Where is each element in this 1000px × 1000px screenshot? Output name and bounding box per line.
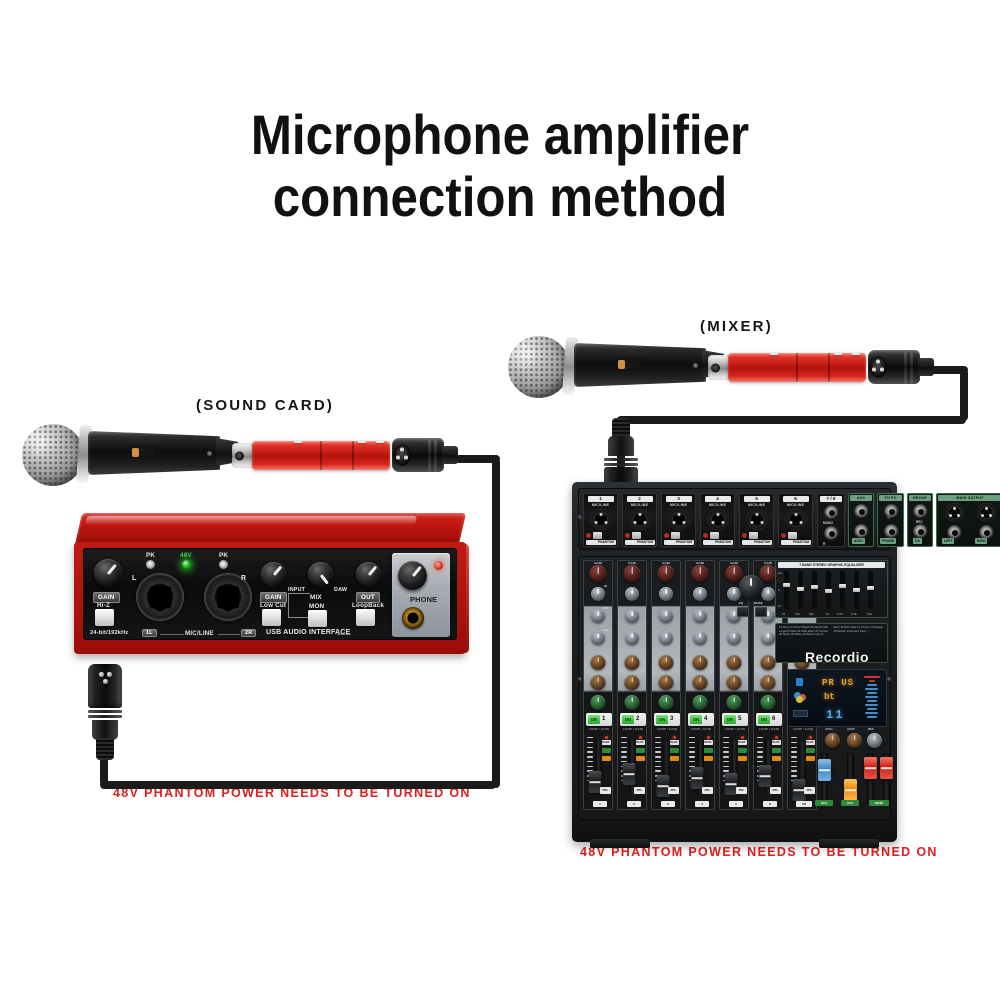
channel-on-button[interactable]: ON 4	[688, 713, 714, 726]
pfl-button[interactable]: PFL	[736, 787, 747, 794]
aux1-knob[interactable]	[761, 655, 776, 670]
adapter-seam-2	[828, 353, 830, 382]
eq-hi-knob[interactable]	[693, 587, 707, 601]
eq-mid-knob[interactable]	[625, 609, 639, 623]
aux1-knob[interactable]	[727, 655, 742, 670]
adapter-notch-2	[834, 352, 842, 355]
channel-letter-l: L	[132, 575, 136, 582]
diagram-canvas: Microphone amplifier connection method (…	[0, 0, 1000, 1000]
comp-gate-label: COMP / GATE	[586, 727, 612, 731]
channel-number: 5	[738, 715, 741, 724]
combo-jack-1[interactable]	[136, 573, 184, 621]
rear-group-to-pc[interactable]: TO PC PHONE	[877, 493, 904, 547]
aux1-knob[interactable]	[693, 655, 708, 670]
group-jack-bottom[interactable]	[884, 524, 899, 539]
xlr-male-ring-2	[88, 715, 122, 718]
audio-mixer: 1 MIC/LINE PHANTOM 2 MIC/LINE PHANTOM	[572, 482, 897, 842]
master-rec-label: REC	[868, 727, 874, 731]
aux-fader-label: AUX	[841, 800, 859, 806]
fader-number: 6	[763, 801, 777, 807]
mixer-rear-input-panel: 1 MIC/LINE PHANTOM 2 MIC/LINE PHANTOM	[578, 488, 891, 550]
rear-channel-number: 3	[666, 496, 692, 502]
panel-screw-right	[887, 515, 891, 519]
headphone-jack[interactable]	[402, 607, 424, 629]
eq-slider-400[interactable]	[812, 571, 817, 609]
rear-xlr-jack[interactable]	[590, 509, 611, 530]
fader-number: 4	[695, 801, 709, 807]
phone-knob[interactable]	[398, 561, 427, 590]
xlr-female-band-1	[904, 350, 907, 384]
mic-power-switch[interactable]	[130, 446, 156, 459]
eq-low-knob[interactable]	[625, 631, 639, 645]
microphone-sound-card	[22, 420, 237, 490]
peak-led	[639, 736, 642, 739]
pfl-button[interactable]: PFL	[634, 787, 645, 794]
eq-mid-knob[interactable]	[659, 609, 673, 623]
aux2-knob[interactable]	[625, 675, 640, 690]
rear-trs-label-r: R	[823, 542, 825, 546]
fader-number: 1	[593, 801, 607, 807]
group-jack-top[interactable]	[854, 504, 869, 519]
main-fader-cap-right[interactable]	[880, 757, 893, 779]
group-title: AUX	[850, 495, 872, 501]
phantom-label: PHANTOM	[781, 540, 811, 545]
phantom-switch[interactable]	[586, 532, 616, 539]
adapter-seam-2	[352, 441, 354, 470]
xlr-male-sound-card	[88, 664, 122, 760]
eq-low-knob[interactable]	[727, 631, 741, 645]
phantom-switch[interactable]	[742, 532, 772, 539]
lcd-line-2: bt	[824, 692, 835, 702]
gain-knob[interactable]	[692, 565, 709, 582]
hi-z-label: Hi-Z	[97, 602, 110, 609]
peak-led	[775, 736, 778, 739]
comp-gate-label: COMP / GATE	[722, 727, 748, 731]
rear-channel-5[interactable]: 5 MIC/LINE PHANTOM	[739, 493, 774, 547]
rear-group-aux[interactable]: AUX AUX1	[848, 493, 874, 547]
pfl-button[interactable]: PFL	[804, 787, 815, 794]
efx-fader-cap[interactable]	[818, 759, 831, 781]
peak-led-right	[219, 560, 228, 569]
cable-soundcard-seg-h-bottom	[100, 781, 496, 789]
pan-knob[interactable]	[591, 695, 606, 710]
xlr-female-mixer	[868, 350, 944, 384]
phantom-switch[interactable]	[703, 532, 733, 539]
gain-label: GAIN	[764, 561, 772, 565]
on-indicator: ON	[758, 715, 770, 724]
gain-left-knob[interactable]	[94, 559, 122, 587]
eq-low-label: LOW	[602, 628, 609, 632]
eq-freq-6k3: 6.3K	[851, 612, 857, 616]
eq-hi-knob[interactable]	[761, 587, 775, 601]
eq-scale-zero: 0	[778, 588, 780, 592]
mon-button[interactable]	[308, 610, 327, 627]
adapter-notch-2	[358, 440, 366, 443]
phantom-switch[interactable]	[781, 532, 811, 539]
group-jack-bottom[interactable]	[854, 524, 869, 539]
group-jack-bottom[interactable]	[913, 524, 928, 539]
eq-low-knob[interactable]	[693, 631, 707, 645]
aux2-knob[interactable]	[693, 675, 708, 690]
channel-strip-1[interactable]: GAIN HI MID LOW ON 1 COMP / GATE PEAK	[583, 560, 613, 810]
gain-label: GAIN	[696, 561, 704, 565]
jack-tag-2: 2R	[241, 629, 256, 637]
pan-knob[interactable]	[727, 695, 742, 710]
master-aux2-label: AUX2	[847, 727, 855, 731]
channel-on-button[interactable]: ON 6	[756, 713, 782, 726]
aux2-knob[interactable]	[659, 675, 674, 690]
on-indicator: ON	[656, 715, 668, 724]
main-out-xlr-left[interactable]	[945, 503, 964, 522]
adapter-seam-1	[320, 441, 322, 470]
mixer-brand-label: Recordio	[789, 649, 885, 665]
rear-xlr-jack[interactable]	[707, 509, 728, 530]
mix-daw-label: DAW	[334, 587, 347, 593]
channel-strip-3[interactable]: GAIN ON 3 COMP / GATE PEAK	[651, 560, 681, 810]
phone-label: PHONE	[410, 595, 437, 604]
page-title-line1: Microphone amplifier	[251, 103, 749, 166]
sound-card-front-panel: GAIN L Hi-Z PK 48V PK R 24-bit/192kHz 1L	[83, 548, 457, 640]
side-button-eq[interactable]	[737, 607, 749, 617]
rear-channel-3[interactable]: 3 MIC/LINE PHANTOM	[661, 493, 696, 547]
xlr-male-ring-2	[604, 463, 638, 466]
eq-freq-1k: 1K	[826, 612, 829, 616]
eq-freq-160: 160	[795, 612, 800, 616]
main-fader-cap-left[interactable]	[864, 757, 877, 779]
eq-slider-6k3[interactable]	[854, 571, 859, 609]
mic-line-label: MIC/LINE	[185, 630, 214, 637]
panel-screw-left	[578, 515, 582, 519]
eq-hi-label: HI	[604, 584, 607, 588]
pfl-button[interactable]: PFL	[668, 787, 679, 794]
graphic-equalizer-panel[interactable]: 7 BAND STEREO GRAPHIC EQUALIZER 63 160 4…	[775, 560, 888, 618]
aux2-knob[interactable]	[727, 675, 742, 690]
eq-hi-knob[interactable]	[659, 587, 673, 601]
channel-number: 2	[636, 715, 639, 724]
cable-mixer-seg-h-mid	[617, 416, 966, 424]
phantom-label: PHANTOM	[664, 540, 694, 545]
rear-channel-type: MIC/LINE	[787, 503, 804, 507]
comp-gate-label: COMP / GATE	[756, 727, 782, 731]
jack-tag-1: 1L	[142, 629, 157, 637]
pfl-button[interactable]: PFL	[600, 787, 611, 794]
rear-trs-jack-r[interactable]	[824, 526, 839, 541]
xlr-female-band-2	[434, 438, 437, 472]
mic-rear-vent	[207, 451, 212, 456]
xlr-male-pin-3	[103, 679, 108, 684]
channel-number: 4	[704, 715, 707, 724]
peak-led	[707, 736, 710, 739]
main-fader-label: MAIN	[869, 800, 889, 806]
mix-label: MIX	[310, 594, 322, 601]
rear-channel-type: MIC/LINE	[631, 503, 648, 507]
page-title: Microphone amplifier connection method	[60, 104, 940, 228]
mixer-control-surface: GAIN HI MID LOW ON 1 COMP / GATE PEAK	[578, 556, 891, 820]
channel-number: 1	[602, 715, 605, 724]
rear-channel-type: MIC/LINE	[709, 503, 726, 507]
xlr-male-pin-1	[99, 672, 104, 677]
gain-right-knob[interactable]	[261, 562, 286, 587]
main-out-label-right: RIGH	[975, 538, 987, 544]
gain-knob[interactable]	[726, 565, 743, 582]
rear-xlr-jack[interactable]	[668, 509, 689, 530]
mic-power-switch[interactable]	[616, 358, 642, 371]
eq-slider-1k[interactable]	[826, 571, 831, 609]
rear-channel-1[interactable]: 1 MIC/LINE PHANTOM	[583, 493, 618, 547]
peak-led	[673, 736, 676, 739]
peak-label-left: PK	[146, 552, 155, 559]
mixer-lcd-display: PR US bt 11	[787, 669, 887, 727]
xlr-female-sound-card	[392, 438, 468, 472]
adapter-seam-1	[796, 353, 798, 382]
comp-gate-label: COMP / GATE	[790, 727, 816, 731]
sound-card-top-gloss	[85, 516, 417, 525]
phantom-label: PHANTOM	[586, 540, 616, 545]
xlr-female-boot	[442, 446, 458, 464]
rear-channel-number: 5	[744, 496, 770, 502]
channel-on-button[interactable]: ON 3	[654, 713, 680, 726]
on-indicator: ON	[588, 715, 600, 724]
channel-strip-4[interactable]: GAIN ON 4 COMP / GATE PEAK	[685, 560, 715, 810]
aux1-knob[interactable]	[591, 655, 606, 670]
phantom-switch[interactable]	[664, 532, 694, 539]
low-cut-button[interactable]	[262, 609, 281, 626]
xlr-female-boot	[918, 358, 934, 376]
rear-group-group[interactable]: GROUP REC CD	[907, 493, 933, 547]
channel-on-button[interactable]: ON 2	[620, 713, 646, 726]
red-xlr-adapter-mixer	[708, 347, 868, 387]
fader-number: 2	[627, 801, 641, 807]
xlr-male-strain-relief	[96, 738, 114, 760]
mixer-foot-left	[590, 839, 650, 848]
mic-rear-vent	[693, 363, 698, 368]
xlr-female-band-1	[428, 438, 431, 472]
on-indicator: ON	[724, 715, 736, 724]
channel-on-button[interactable]: ON 1	[586, 713, 612, 726]
gain-label: GAIN	[628, 561, 636, 565]
gain-label: GAIN	[594, 561, 602, 565]
channel-fader-cap[interactable]	[759, 765, 772, 787]
mon-bracket-h2	[288, 617, 308, 618]
gain-label: GAIN	[730, 561, 738, 565]
adapter-notch-3	[376, 440, 384, 443]
xlr-male-strain-relief	[612, 418, 630, 438]
power-led	[434, 561, 443, 570]
efx-fader-label: EFX	[815, 800, 833, 806]
comp-gate-label: COMP / GATE	[688, 727, 714, 731]
peak-led	[809, 736, 812, 739]
fader-number: 5	[729, 801, 743, 807]
xlr-male-pin-2	[107, 672, 112, 677]
xlr-male-head	[88, 664, 122, 708]
surface-screw-right	[887, 677, 891, 681]
cable-mixer-seg-v-right	[960, 369, 968, 421]
side-button-eq-label: EQ	[739, 601, 743, 605]
eq-slider-63[interactable]	[784, 571, 789, 609]
peak-led	[605, 736, 608, 739]
master-selector-knob[interactable]	[739, 575, 763, 599]
side-button-mode-label: MODE	[754, 601, 763, 605]
master-aux1-knob[interactable]	[825, 733, 840, 748]
pan-knob[interactable]	[693, 695, 708, 710]
master-aux2-knob[interactable]	[847, 733, 862, 748]
channel-fader-cap[interactable]	[691, 767, 704, 789]
group-bottom-label: CD	[913, 538, 922, 544]
low-cut-label: Low Cut	[260, 602, 286, 609]
peak-led	[741, 736, 744, 739]
gain-knob[interactable]	[590, 565, 607, 582]
pfl-button[interactable]: PFL	[702, 787, 713, 794]
divider-usb	[337, 634, 351, 635]
rear-xlr-jack[interactable]	[785, 509, 806, 530]
eq-scale-minus12: -12	[777, 604, 781, 608]
group-jack-top[interactable]	[913, 504, 928, 519]
mix-knob[interactable]	[308, 562, 333, 587]
gain-knob[interactable]	[760, 565, 777, 582]
mixer-foot-right	[819, 839, 879, 848]
xlr-male-tail	[608, 436, 634, 456]
eq-slider-2k5[interactable]	[840, 571, 845, 609]
lcd-line-3: 11	[826, 708, 844, 722]
hi-z-button[interactable]	[95, 609, 114, 626]
equalizer-title: 7 BAND STEREO GRAPHIC EQUALIZER	[778, 562, 885, 568]
page-title-line2: connection method	[60, 166, 940, 228]
rear-channel-type: MIC/LINE	[748, 503, 765, 507]
rear-channel-number: 4	[705, 496, 731, 502]
on-indicator: ON	[622, 715, 634, 724]
eq-mid-label: MID	[602, 606, 608, 610]
pfl-button[interactable]: PFL	[770, 787, 781, 794]
comp-gate-label: COMP / GATE	[620, 727, 646, 731]
fader-scale	[791, 737, 797, 785]
xlr-male-tail	[92, 720, 118, 740]
main-out-xlr-right[interactable]	[977, 503, 996, 522]
master-rec-knob[interactable]	[867, 733, 882, 748]
eq-scale-plus12: +12	[777, 571, 782, 575]
rear-channel-number: 6	[783, 496, 809, 502]
caption-sound-card: (SOUND CARD)	[196, 397, 334, 414]
eq-low-knob[interactable]	[659, 631, 673, 645]
adapter-notch-1	[770, 352, 778, 355]
cable-soundcard-seg-v-right	[492, 458, 500, 788]
eq-hi-knob[interactable]	[591, 587, 605, 601]
phantom-48v-led	[182, 560, 191, 569]
eq-mid-knob[interactable]	[591, 609, 605, 623]
channel-on-button[interactable]: ON 5	[722, 713, 748, 726]
echo-effects-icon	[793, 710, 808, 717]
eq-hi-knob[interactable]	[625, 587, 639, 601]
mon-label: MON	[309, 603, 324, 610]
rear-channel-number: 1	[588, 496, 614, 502]
channel-fader-cap[interactable]	[623, 763, 636, 785]
aux1-knob[interactable]	[659, 655, 674, 670]
rear-xlr-jack[interactable]	[629, 509, 650, 530]
gain-label: GAIN	[662, 561, 670, 565]
xlr-female-socket	[870, 357, 887, 378]
loopback-label: LoopBack	[352, 602, 384, 609]
pan-knob[interactable]	[761, 695, 776, 710]
gain-knob[interactable]	[658, 565, 675, 582]
xlr-male-ring-1	[604, 458, 638, 461]
peak-led-left	[146, 560, 155, 569]
pan-knob[interactable]	[625, 695, 640, 710]
fader-number: 7/8	[796, 801, 812, 807]
eq-slider-16k[interactable]	[868, 571, 873, 609]
usb-audio-interface: GAIN L Hi-Z PK 48V PK R 24-bit/192kHz 1L	[74, 513, 466, 663]
lcd-level-meter	[864, 676, 880, 720]
eq-freq-400: 400	[809, 612, 814, 616]
aux2-knob[interactable]	[761, 675, 776, 690]
xlr-female-socket	[394, 445, 411, 466]
eq-slider-160[interactable]	[798, 571, 803, 609]
rear-channel-7-8[interactable]: 7 / 8 MONO R	[817, 493, 845, 547]
eq-low-knob[interactable]	[761, 631, 775, 645]
rear-channel-type: MIC/LINE	[592, 503, 609, 507]
mic-grille-icon	[508, 336, 570, 398]
eq-freq-63: 63	[782, 612, 785, 616]
surface-screw-left	[578, 677, 582, 681]
disc-icon	[794, 692, 807, 702]
channel-letter-r: R	[241, 575, 246, 582]
mic-grille-icon	[22, 424, 84, 486]
aux-fader-cap[interactable]	[844, 779, 857, 801]
rear-channel-6[interactable]: 6 MIC/LINE PHANTOM	[778, 493, 813, 547]
group-title: TO PC	[879, 495, 902, 501]
pan-knob[interactable]	[659, 695, 674, 710]
aux2-knob[interactable]	[591, 675, 606, 690]
phantom-label: PHANTOM	[742, 540, 772, 545]
microphone-mixer	[508, 332, 723, 402]
channel-strip-2[interactable]: GAIN ON 2 COMP / GATE PEAK	[617, 560, 647, 810]
divider-right	[218, 634, 240, 635]
peak-label-right: PK	[219, 552, 228, 559]
rear-channel-number: 7 / 8	[820, 496, 842, 502]
main-out-label-left: LEFT	[942, 538, 954, 544]
comp-gate-label: COMP / GATE	[654, 727, 680, 731]
rear-channel-2[interactable]: 2 MIC/LINE PHANTOM	[622, 493, 657, 547]
loopback-button[interactable]	[356, 609, 375, 626]
xlr-male-ring-1	[88, 710, 122, 713]
bluetooth-icon	[796, 678, 803, 686]
aux1-knob[interactable]	[625, 655, 640, 670]
rear-channel-type: MIC/LINE	[670, 503, 687, 507]
eq-mid-knob[interactable]	[693, 609, 707, 623]
master-aux1-label: AUX1	[825, 727, 833, 731]
rear-channel-4[interactable]: 4 MIC/LINE PHANTOM	[700, 493, 735, 547]
side-button-mode[interactable]	[755, 607, 767, 617]
channel-number: 3	[670, 715, 673, 724]
rear-trs-label-mono: MONO	[823, 521, 833, 525]
group-title: GROUP	[909, 495, 931, 501]
phantom-48v-label: 48V	[180, 552, 192, 559]
group-bottom-label: PHONE	[880, 538, 896, 544]
phantom-switch[interactable]	[625, 532, 655, 539]
rear-xlr-jack[interactable]	[746, 509, 767, 530]
mon-bracket-v	[288, 593, 289, 617]
out-knob[interactable]	[356, 562, 381, 587]
phantom-label: PHANTOM	[703, 540, 733, 545]
lcd-line-1: PR US	[822, 678, 854, 688]
mon-bracket-h	[288, 593, 310, 594]
gain-knob[interactable]	[624, 565, 641, 582]
adapter-notch-3	[852, 352, 860, 355]
sound-card-front-shell: GAIN L Hi-Z PK 48V PK R 24-bit/192kHz 1L	[74, 542, 466, 654]
rear-trs-jack-mono[interactable]	[824, 505, 839, 520]
group-title: MAIN OUTPUT	[938, 495, 1000, 501]
red-xlr-adapter-sound-card	[232, 435, 392, 475]
eq-low-knob[interactable]	[591, 631, 605, 645]
rear-group-main-output[interactable]: MAIN OUTPUT LEFT RIGH	[936, 493, 1000, 547]
